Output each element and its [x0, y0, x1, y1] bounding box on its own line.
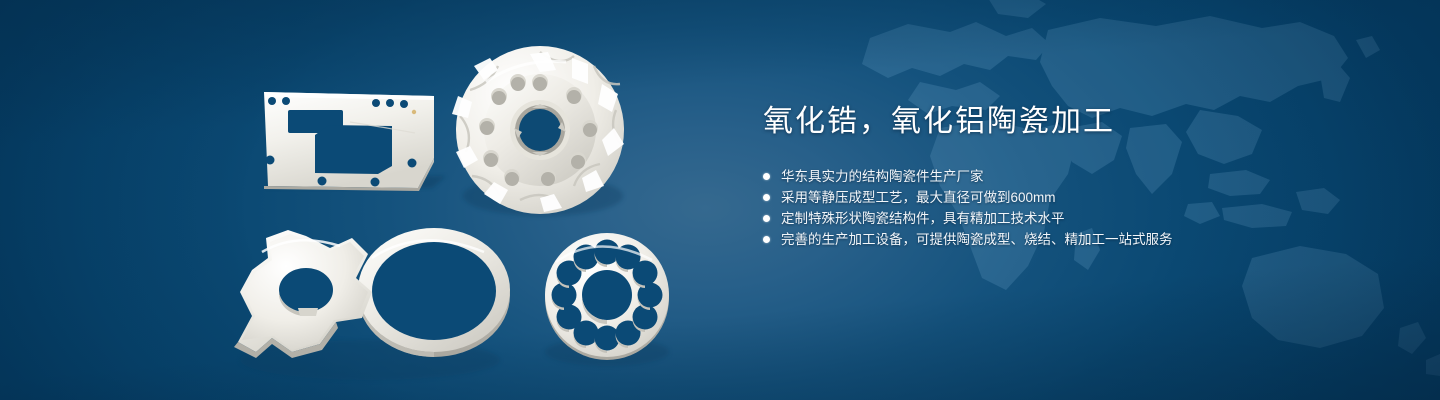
list-item: 完善的生产加工设备，可提供陶瓷成型、烧结、精加工一站式服务 [763, 229, 1383, 250]
bullet-dot-icon [763, 173, 770, 180]
ceramic-cross-plate-and-ring [234, 228, 510, 380]
list-item-label: 完善的生产加工设备，可提供陶瓷成型、烧结、精加工一站式服务 [781, 229, 1173, 250]
ceramic-flat-plate [264, 92, 446, 191]
list-item: 定制特殊形状陶瓷结构件，具有精加工技术水平 [763, 208, 1383, 229]
bullet-dot-icon [763, 215, 770, 222]
list-item-label: 华东具实力的结构陶瓷件生产厂家 [781, 166, 984, 187]
promo-banner: 氧化锆，氧化铝陶瓷加工 华东具实力的结构陶瓷件生产厂家 采用等静压成型工艺，最大… [0, 0, 1440, 400]
bullet-dot-icon [763, 194, 770, 201]
ceramic-perforated-disc [545, 233, 669, 366]
banner-feature-list: 华东具实力的结构陶瓷件生产厂家 采用等静压成型工艺，最大直径可做到600mm 定… [763, 166, 1383, 250]
banner-text-column: 氧化锆，氧化铝陶瓷加工 华东具实力的结构陶瓷件生产厂家 采用等静压成型工艺，最大… [763, 104, 1383, 250]
list-item: 采用等静压成型工艺，最大直径可做到600mm [763, 187, 1383, 208]
ceramic-cross-plate [234, 230, 372, 358]
list-item: 华东具实力的结构陶瓷件生产厂家 [763, 166, 1383, 187]
ceramic-impeller-disc [452, 46, 624, 216]
ceramic-ring [358, 228, 510, 357]
bullet-dot-icon [763, 236, 770, 243]
banner-headline: 氧化锆，氧化铝陶瓷加工 [763, 104, 1383, 140]
list-item-label: 定制特殊形状陶瓷结构件，具有精加工技术水平 [781, 208, 1065, 229]
list-item-label: 采用等静压成型工艺，最大直径可做到600mm [781, 187, 1056, 208]
ceramic-products-image [0, 0, 720, 400]
